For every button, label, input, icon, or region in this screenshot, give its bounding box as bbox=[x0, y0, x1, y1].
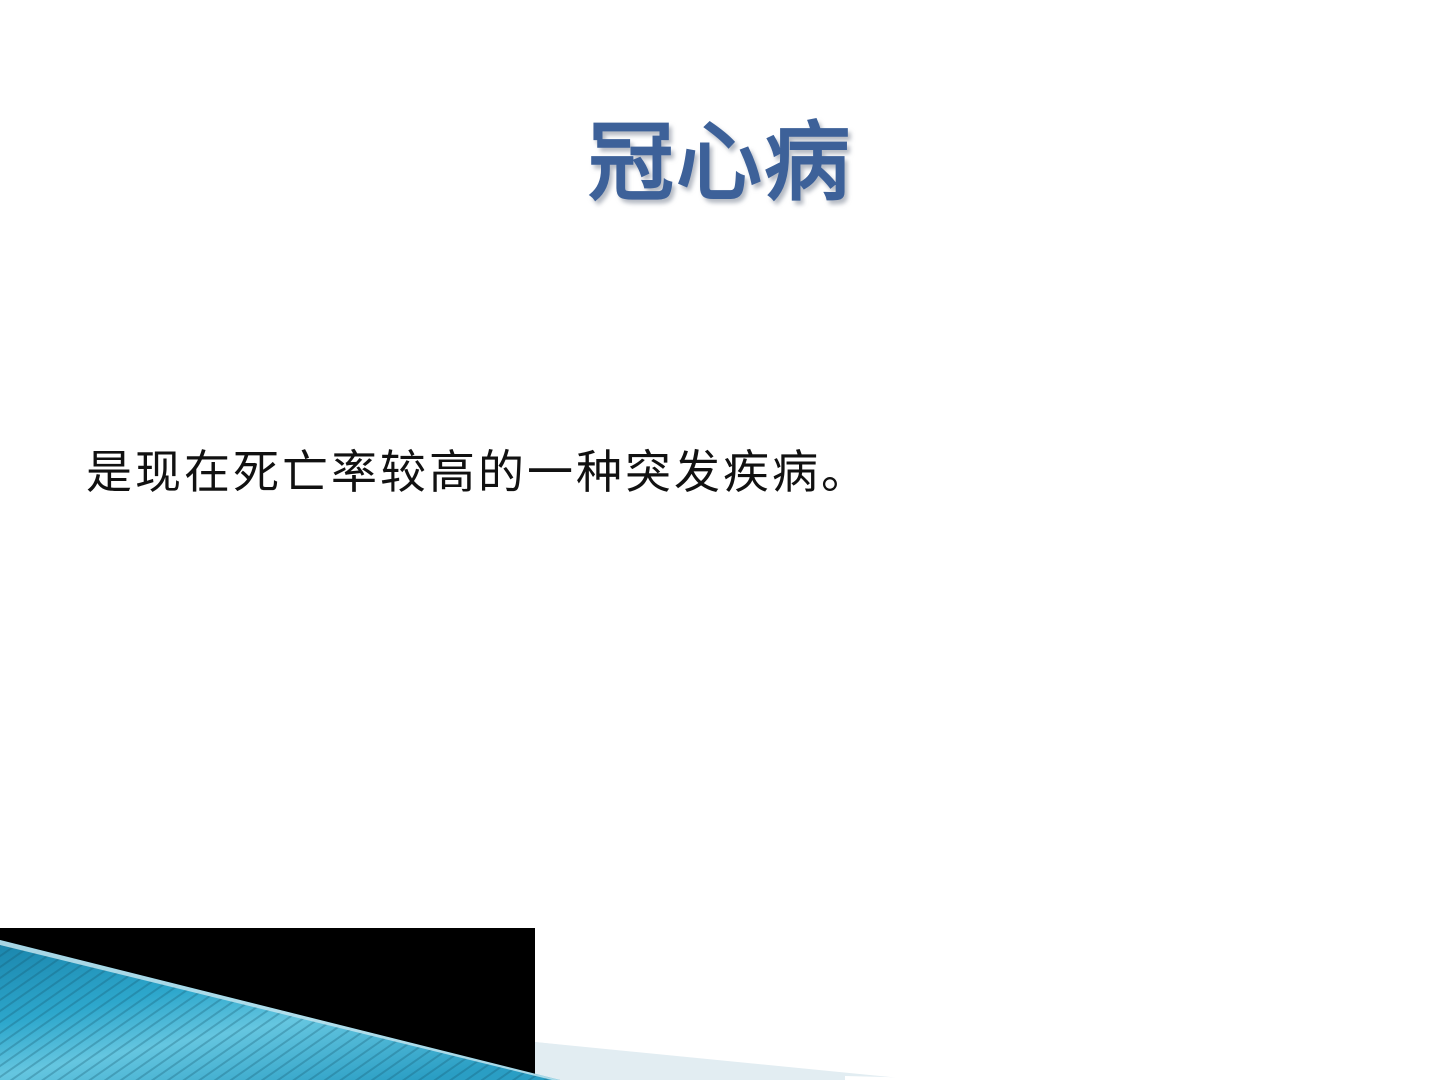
black-wedge-notch bbox=[0, 900, 535, 928]
cyan-triangle-shape bbox=[0, 940, 560, 1080]
page-title: 冠心病 bbox=[0, 118, 1440, 209]
presentation-slide: 冠心病 是现在死亡率较高的一种突发疾病。 bbox=[0, 0, 1440, 1080]
cyan-edge-highlight bbox=[0, 940, 560, 1080]
banner-graphic bbox=[0, 900, 1440, 1080]
slide-body-text: 是现在死亡率较高的一种突发疾病。 bbox=[86, 444, 1286, 502]
cyan-stripe-texture bbox=[0, 900, 1440, 1080]
black-wedge-shape bbox=[0, 928, 535, 1080]
pale-blue-band-upper bbox=[535, 1042, 900, 1080]
pale-blue-band bbox=[535, 1042, 845, 1080]
corner-sliver bbox=[845, 1076, 1000, 1080]
bottom-corner-banner bbox=[0, 900, 1440, 1080]
